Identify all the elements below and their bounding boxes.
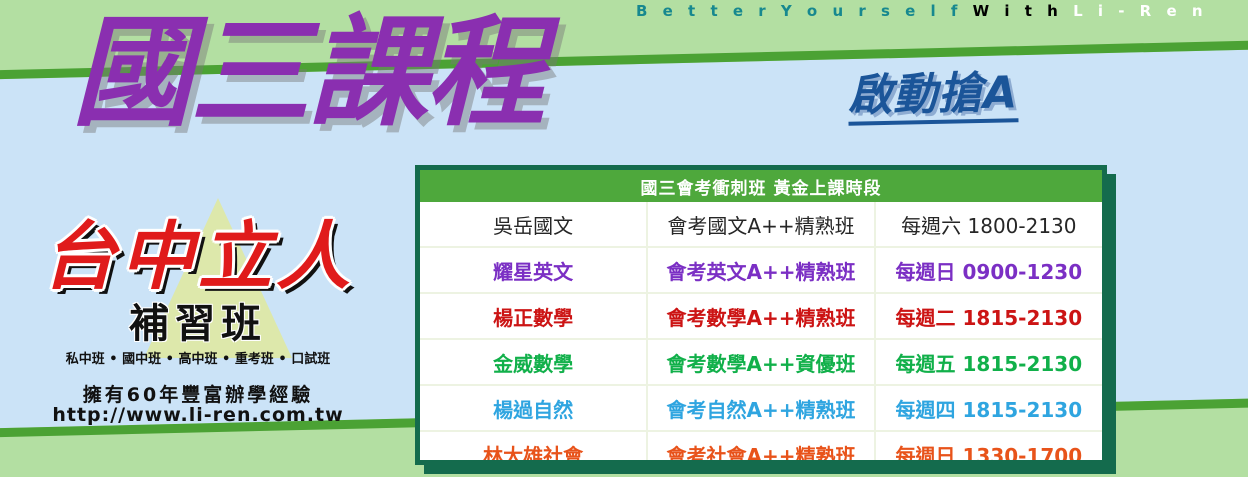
cell-time: 每週四 1815-2130: [875, 385, 1102, 431]
tagline-part-1: B e t t e r Y o u r s e l f: [636, 2, 962, 20]
tagline: B e t t e r Y o u r s e l f W i t h L i …: [636, 2, 1208, 20]
logo-experience-text: 擁有60年豐富辦學經驗: [26, 380, 370, 407]
schedule-table-card: 國三會考衝刺班 黃金上課時段 吳岳國文會考國文A++精熟班每週六 1800-21…: [415, 165, 1107, 465]
table-row: 金威數學會考數學A++資優班每週五 1815-2130: [420, 339, 1102, 385]
logo-brand-name: 台中立人: [26, 220, 370, 294]
schedule-table-body: 吳岳國文會考國文A++精熟班每週六 1800-2130耀星英文會考英文A++精熟…: [420, 202, 1102, 465]
promo-banner: B e t t e r Y o u r s e l f W i t h L i …: [0, 0, 1248, 477]
schedule-header-title: 國三會考衝刺班 黃金上課時段: [420, 170, 1102, 202]
cell-teacher: 吳岳國文: [420, 202, 647, 247]
tagline-part-3: L i - R e n: [1073, 2, 1207, 20]
page-title: 國三課程: [72, 14, 544, 134]
cell-teacher: 耀星英文: [420, 247, 647, 293]
logo-class-list: 私中班 • 國中班 • 高中班 • 重考班 • 口試班: [26, 348, 370, 367]
cell-teacher: 楊正數學: [420, 293, 647, 339]
cell-course: 會考社會A++精熟班: [647, 431, 874, 465]
logo-website-url[interactable]: http://www.li-ren.com.tw: [26, 404, 370, 426]
logo-brand-type: 補習班: [26, 304, 370, 344]
cell-teacher: 林大雄社會: [420, 431, 647, 465]
table-row: 吳岳國文會考國文A++精熟班每週六 1800-2130: [420, 202, 1102, 247]
schedule-header-row: 國三會考衝刺班 黃金上課時段: [420, 170, 1102, 202]
cell-course: 會考英文A++精熟班: [647, 247, 874, 293]
cell-time: 每週日 1330-1700: [875, 431, 1102, 465]
table-row: 林大雄社會會考社會A++精熟班每週日 1330-1700: [420, 431, 1102, 465]
table-row: 楊正數學會考數學A++精熟班每週二 1815-2130: [420, 293, 1102, 339]
table-row: 耀星英文會考英文A++精熟班每週日 0900-1230: [420, 247, 1102, 293]
cell-course: 會考自然A++精熟班: [647, 385, 874, 431]
cell-course: 會考數學A++精熟班: [647, 293, 874, 339]
page-subtitle: 啟動搶A: [847, 70, 1018, 126]
cell-course: 會考數學A++資優班: [647, 339, 874, 385]
cell-time: 每週五 1815-2130: [875, 339, 1102, 385]
schedule-table: 國三會考衝刺班 黃金上課時段 吳岳國文會考國文A++精熟班每週六 1800-21…: [420, 170, 1102, 465]
tagline-part-2: W i t h: [973, 2, 1063, 20]
cell-teacher: 楊過自然: [420, 385, 647, 431]
cell-time: 每週日 0900-1230: [875, 247, 1102, 293]
schedule-table-head: 國三會考衝刺班 黃金上課時段: [420, 170, 1102, 202]
cell-course: 會考國文A++精熟班: [647, 202, 874, 247]
brand-logo: 台中立人 補習班 私中班 • 國中班 • 高中班 • 重考班 • 口試班 擁有6…: [18, 196, 378, 426]
cell-teacher: 金威數學: [420, 339, 647, 385]
table-row: 楊過自然會考自然A++精熟班每週四 1815-2130: [420, 385, 1102, 431]
cell-time: 每週二 1815-2130: [875, 293, 1102, 339]
cell-time: 每週六 1800-2130: [875, 202, 1102, 247]
